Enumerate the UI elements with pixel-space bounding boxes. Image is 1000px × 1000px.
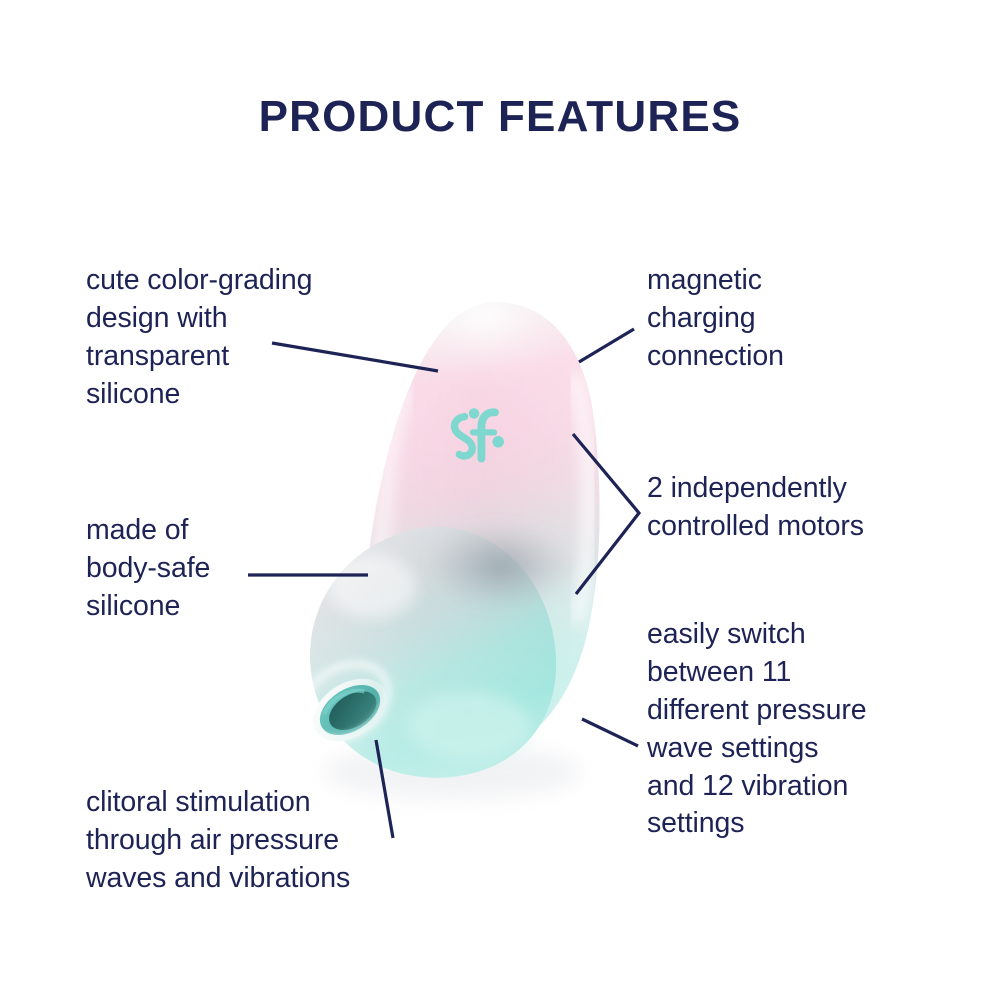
- feature-label-pressure-vibration-settings: easily switch between 11 different press…: [647, 616, 947, 843]
- feature-label-color-grading: cute color-grading design with transpare…: [86, 262, 386, 414]
- feature-label-two-motors: 2 independently controlled motors: [647, 470, 947, 546]
- page-title: PRODUCT FEATURES: [0, 92, 1000, 142]
- feature-label-body-safe: made of body-safe silicone: [86, 512, 356, 626]
- leader-two-motors: [573, 434, 639, 594]
- leader-magnetic-charging: [579, 329, 634, 362]
- feature-label-clitoral-stimulation: clitoral stimulation through air pressur…: [86, 784, 416, 898]
- infographic-page: PRODUCT FEATURES cute color-grading desi…: [0, 0, 1000, 1000]
- feature-label-magnetic-charging: magnetic charging connection: [647, 262, 947, 376]
- nozzle-rim-highlight: [288, 649, 402, 755]
- air-pulse-nozzle: [302, 666, 398, 754]
- satisfyer-logo-icon: [455, 408, 504, 458]
- leader-settings: [582, 719, 638, 746]
- product-body: [366, 296, 600, 760]
